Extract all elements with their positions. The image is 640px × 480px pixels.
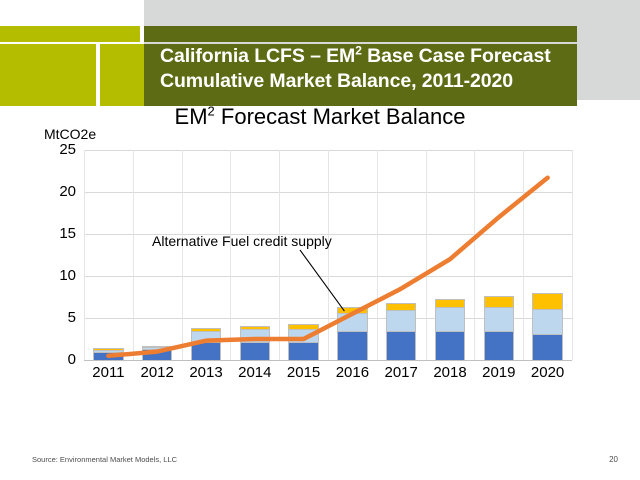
y-tick-10: 10 [59,267,76,284]
x-tick-2020: 2020 [531,364,564,381]
slide-title-line-1-pre: California LCFS – EM [160,45,355,67]
slide-title-line-2: Cumulative Market Balance, 2011-2020 [160,69,580,94]
annotation-label: Alternative Fuel credit supply [152,233,332,249]
x-tick-2014: 2014 [238,364,271,381]
line-series-path [108,178,547,356]
y-axis-tick-labels: 0510152025 [40,150,76,360]
x-tick-2011: 2011 [92,364,124,381]
x-tick-2015: 2015 [287,364,320,381]
title-band-top [144,26,577,42]
slide-title: California LCFS – EM2 Base Case Forecast… [160,44,580,106]
slide-title-line-1-post: Base Case Forecast [362,45,551,67]
y-tick-25: 25 [59,141,76,158]
chart-title-superscript: 2 [208,104,215,119]
gridline-0 [84,360,572,361]
slide-canvas: California LCFS – EM2 Base Case Forecast… [0,0,640,480]
x-tick-2012: 2012 [141,364,174,381]
accent-block-left [0,44,96,106]
category-separator [572,150,573,360]
slide-title-line-1: California LCFS – EM2 Base Case Forecast [160,44,580,69]
x-tick-2013: 2013 [189,364,222,381]
y-tick-15: 15 [59,225,76,242]
y-axis-unit-label: MtCO2e [44,126,96,142]
source-note: Source: Environmental Market Models, LLC [32,455,177,464]
y-tick-5: 5 [68,309,76,326]
chart-line-series [84,150,572,360]
accent-bar-top [0,26,140,42]
x-tick-2016: 2016 [336,364,369,381]
x-tick-2019: 2019 [482,364,515,381]
x-tick-2017: 2017 [385,364,418,381]
accent-block-left-inner [100,44,144,106]
x-axis-tick-labels: 2011201220132014201520162017201820192020 [84,364,572,388]
y-tick-20: 20 [59,183,76,200]
chart-title-pre: EM [175,104,208,129]
slide-title-superscript: 2 [355,44,362,58]
chart-title-post: Forecast Market Balance [215,104,466,129]
page-number: 20 [609,455,618,464]
chart-plot-area [84,150,572,360]
y-tick-0: 0 [68,351,76,368]
x-tick-2018: 2018 [433,364,466,381]
